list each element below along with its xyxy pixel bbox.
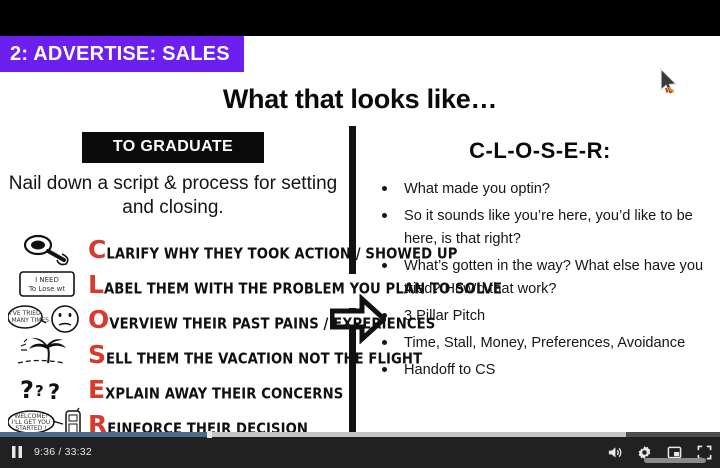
closer-letter: C [88,237,106,262]
svg-text:To Lose wt: To Lose wt [28,285,66,293]
list-item: Handoff to CS [376,359,712,382]
list-item: I'VE TRIED SO MANY TIMES O verview their… [8,302,338,337]
time-display: 9:36 / 33:32 [34,446,92,458]
svg-text:I NEED: I NEED [35,276,59,284]
volume-icon[interactable] [607,445,622,460]
svg-text:?: ? [35,382,44,400]
sad-face-doodle: I'VE TRIED SO MANY TIMES [8,302,86,336]
list-item: S ell them the vacation not the flight [8,337,338,372]
closer-letter: L [88,272,104,297]
right-column: C-L-O-S-E-R: What made you optin? So it … [368,138,712,386]
svg-text:STARTED !: STARTED ! [15,425,46,432]
controls-left-group: 9:36 / 33:32 [10,436,92,468]
list-item: What made you optin? [376,178,712,201]
closer-text: E xplain away their concerns [88,377,343,402]
svg-text:?: ? [20,376,34,404]
to-graduate-header: TO GRADUATE [82,132,264,163]
closer-bullet-list: What made you optin? So it sounds like y… [368,178,712,382]
closer-letter: O [88,307,109,332]
question-marks-doodle: ? ? ? [8,372,86,406]
magnifier-doodle [8,232,86,266]
palm-tree-doodle [8,337,86,371]
slide-canvas: 2: ADVERTISE: SALES What that looks like… [0,36,720,436]
controls-right-group [607,436,712,468]
progress-scrubber[interactable] [207,431,212,438]
list-item: C larify why they took action / showed u… [8,232,338,267]
left-subtitle: Nail down a script & process for setting… [8,172,338,220]
section-banner-label: 2: ADVERTISE: SALES [10,43,230,66]
list-item: So it sounds like you’re here, you’d lik… [376,205,712,251]
list-item: Time, Stall, Money, Preferences, Avoidan… [376,332,712,355]
closer-acronym-list: C larify why they took action / showed u… [8,232,338,442]
list-item: What’s gotten in the way? What else have… [376,255,712,301]
closer-letter: S [88,342,106,367]
page-title: What that looks like… [0,84,720,115]
list-item: 3 Pillar Pitch [376,305,712,328]
svg-text:I'VE TRIED: I'VE TRIED [9,310,41,317]
list-item: I NEED To Lose wt L abel them with the p… [8,267,338,302]
left-column: TO GRADUATE Nail down a script & process… [8,132,338,442]
scrollbar-thumb[interactable] [644,458,706,463]
pause-icon[interactable] [10,445,24,459]
svg-text:?: ? [48,380,60,404]
closer-phrase: xplain away their concerns [105,386,343,403]
player-controls[interactable]: 9:36 / 33:32 [0,436,720,468]
list-item: ? ? ? E xplain away their concerns [8,372,338,407]
note-doodle: I NEED To Lose wt [8,267,86,301]
closer-letter: E [88,377,105,402]
video-player[interactable]: 2: ADVERTISE: SALES What that looks like… [0,0,720,468]
closer-heading: C-L-O-S-E-R: [368,138,712,164]
section-banner: 2: ADVERTISE: SALES [0,36,244,72]
